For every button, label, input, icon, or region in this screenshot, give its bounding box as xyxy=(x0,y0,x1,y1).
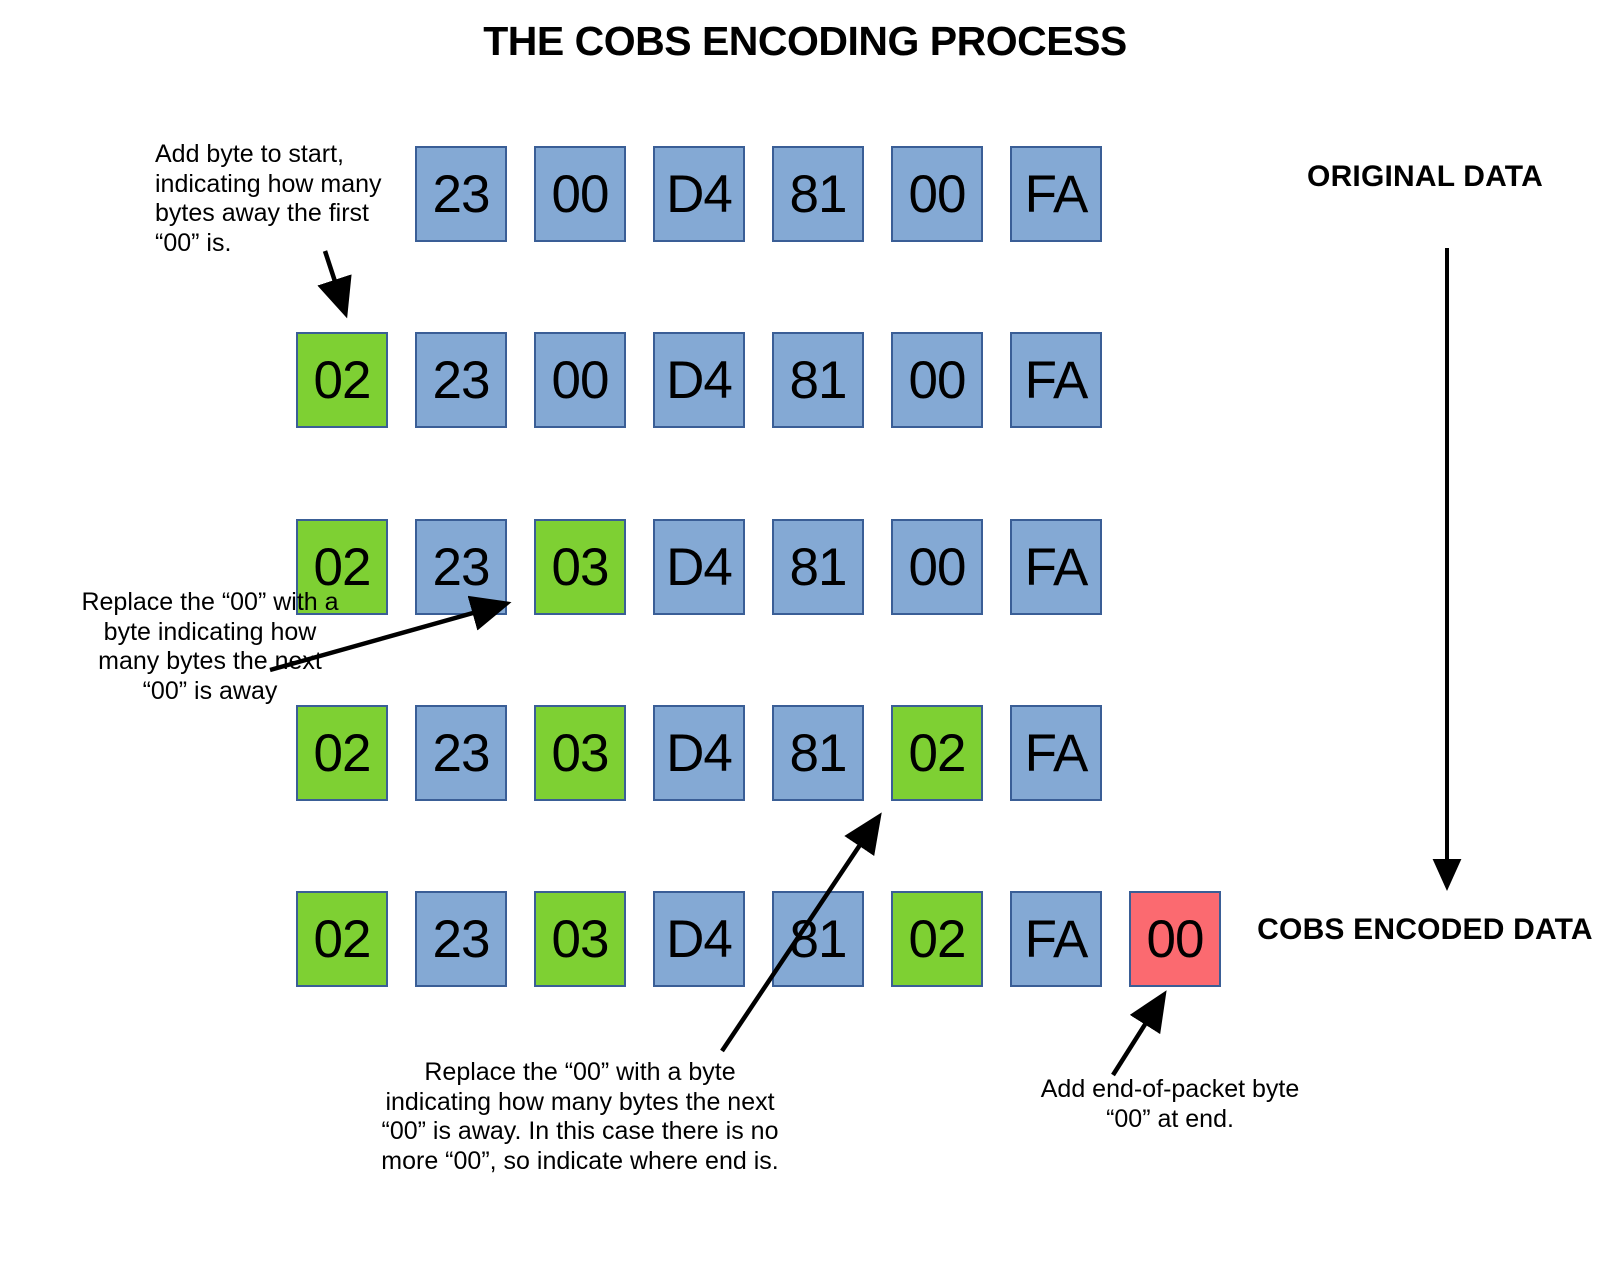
byte-box: 23 xyxy=(415,519,507,615)
byte-box: 81 xyxy=(772,332,864,428)
byte-box: 23 xyxy=(415,705,507,801)
byte-box: 00 xyxy=(534,146,626,242)
byte-box: 00 xyxy=(891,146,983,242)
byte-row-step-add-start-byte: 022300D48100FA xyxy=(296,332,1102,428)
byte-box: 81 xyxy=(772,891,864,987)
byte-box: 03 xyxy=(534,705,626,801)
byte-box: 02 xyxy=(891,891,983,987)
byte-box: FA xyxy=(1010,891,1102,987)
label-original-data: ORIGINAL DATA xyxy=(1270,160,1580,195)
byte-box: 02 xyxy=(296,891,388,987)
byte-box: 23 xyxy=(415,146,507,242)
byte-box: 81 xyxy=(772,705,864,801)
byte-box: 03 xyxy=(534,519,626,615)
byte-row-step-replace-first-zero: 022303D48100FA xyxy=(296,519,1102,615)
byte-box: 00 xyxy=(534,332,626,428)
byte-box: 81 xyxy=(772,146,864,242)
annotation-add-end-of-packet: Add end-of-packet byte “00” at end. xyxy=(1025,1075,1315,1134)
byte-box: 02 xyxy=(296,332,388,428)
byte-box: D4 xyxy=(653,705,745,801)
byte-box: 02 xyxy=(296,705,388,801)
byte-box: 03 xyxy=(534,891,626,987)
byte-box: 00 xyxy=(1129,891,1221,987)
byte-box: D4 xyxy=(653,146,745,242)
diagram-canvas: THE COBS ENCODING PROCESS 2300D48100FA02… xyxy=(0,0,1610,1288)
byte-box: 00 xyxy=(891,519,983,615)
byte-row-cobs-encoded-data: 022303D48102FA00 xyxy=(296,891,1221,987)
annotation-replace-last-zero: Replace the “00” with a byte indicating … xyxy=(380,1058,780,1176)
byte-box: D4 xyxy=(653,332,745,428)
byte-box: 81 xyxy=(772,519,864,615)
label-cobs-encoded-data: COBS ENCODED DATA xyxy=(1255,913,1595,948)
byte-row-original-data: 2300D48100FA xyxy=(415,146,1102,242)
byte-row-step-replace-second-zero: 022303D48102FA xyxy=(296,705,1102,801)
byte-box: FA xyxy=(1010,705,1102,801)
annotation-replace-first-zero: Replace the “00” with a byte indicating … xyxy=(75,588,345,706)
byte-box: 00 xyxy=(891,332,983,428)
byte-box: 23 xyxy=(415,332,507,428)
byte-box: 23 xyxy=(415,891,507,987)
byte-box: D4 xyxy=(653,519,745,615)
byte-box: FA xyxy=(1010,332,1102,428)
byte-box: D4 xyxy=(653,891,745,987)
arrow-add-end-of-packet xyxy=(1113,996,1163,1075)
annotation-add-start-byte: Add byte to start, indicating how many b… xyxy=(155,140,385,258)
byte-box: FA xyxy=(1010,146,1102,242)
arrow-add-start-byte xyxy=(325,251,345,312)
byte-box: 02 xyxy=(891,705,983,801)
byte-box: FA xyxy=(1010,519,1102,615)
page-title: THE COBS ENCODING PROCESS xyxy=(0,18,1610,65)
